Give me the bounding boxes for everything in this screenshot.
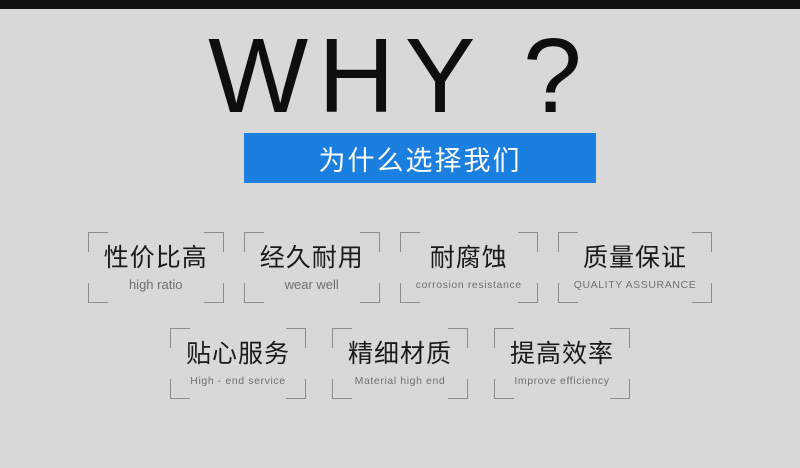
top-accent-bar — [0, 0, 800, 9]
corner-bracket-icon — [88, 232, 108, 252]
corner-bracket-icon — [170, 328, 190, 348]
corner-bracket-icon — [170, 379, 190, 399]
corner-bracket-icon — [244, 283, 264, 303]
feature-title: 提高效率 — [510, 339, 614, 369]
feature-grid: 性价比高 high ratio 经久耐用 wear well 耐腐蚀 corro… — [0, 232, 800, 399]
poster-page: WHY ? 为什么选择我们 性价比高 high ratio 经久耐用 wear … — [0, 0, 800, 468]
corner-bracket-icon — [204, 283, 224, 303]
corner-bracket-icon — [360, 232, 380, 252]
feature-subtitle: QUALITY ASSURANCE — [574, 277, 697, 293]
feature-title: 性价比高 — [104, 243, 208, 273]
feature-subtitle: corrosion resistance — [416, 277, 522, 293]
subtitle-text: 为什么选择我们 — [244, 133, 596, 183]
corner-bracket-icon — [400, 283, 420, 303]
feature-subtitle: High - end service — [186, 373, 290, 389]
feature-title: 精细材质 — [348, 339, 452, 369]
feature-card-wear-well: 经久耐用 wear well — [244, 232, 380, 303]
feature-card-corrosion-resistance: 耐腐蚀 corrosion resistance — [400, 232, 538, 303]
feature-card-improve-efficiency: 提高效率 Improve efficiency — [494, 328, 630, 399]
corner-bracket-icon — [286, 379, 306, 399]
corner-bracket-icon — [692, 232, 712, 252]
corner-bracket-icon — [400, 232, 420, 252]
corner-bracket-icon — [332, 379, 352, 399]
corner-bracket-icon — [692, 283, 712, 303]
corner-bracket-icon — [494, 379, 514, 399]
feature-subtitle: Improve efficiency — [510, 373, 614, 389]
page-title: WHY ? — [0, 22, 800, 130]
corner-bracket-icon — [558, 232, 578, 252]
feature-row-2: 贴心服务 High - end service 精细材质 Material hi… — [0, 328, 800, 399]
subtitle-banner: 为什么选择我们 — [244, 133, 596, 183]
corner-bracket-icon — [448, 328, 468, 348]
feature-subtitle: Material high end — [348, 373, 452, 389]
feature-subtitle: high ratio — [104, 277, 208, 293]
corner-bracket-icon — [360, 283, 380, 303]
corner-bracket-icon — [204, 232, 224, 252]
corner-bracket-icon — [448, 379, 468, 399]
corner-bracket-icon — [610, 379, 630, 399]
corner-bracket-icon — [286, 328, 306, 348]
feature-title: 耐腐蚀 — [416, 243, 522, 273]
corner-bracket-icon — [88, 283, 108, 303]
corner-bracket-icon — [558, 283, 578, 303]
corner-bracket-icon — [518, 232, 538, 252]
feature-title: 贴心服务 — [186, 339, 290, 369]
feature-subtitle: wear well — [260, 277, 364, 293]
feature-card-high-end-service: 贴心服务 High - end service — [170, 328, 306, 399]
feature-card-material-high-end: 精细材质 Material high end — [332, 328, 468, 399]
feature-title: 经久耐用 — [260, 243, 364, 273]
corner-bracket-icon — [518, 283, 538, 303]
corner-bracket-icon — [244, 232, 264, 252]
feature-title: 质量保证 — [574, 243, 697, 273]
feature-card-quality-assurance: 质量保证 QUALITY ASSURANCE — [558, 232, 713, 303]
corner-bracket-icon — [332, 328, 352, 348]
corner-bracket-icon — [610, 328, 630, 348]
feature-card-high-ratio: 性价比高 high ratio — [88, 232, 224, 303]
feature-row-1: 性价比高 high ratio 经久耐用 wear well 耐腐蚀 corro… — [0, 232, 800, 303]
corner-bracket-icon — [494, 328, 514, 348]
